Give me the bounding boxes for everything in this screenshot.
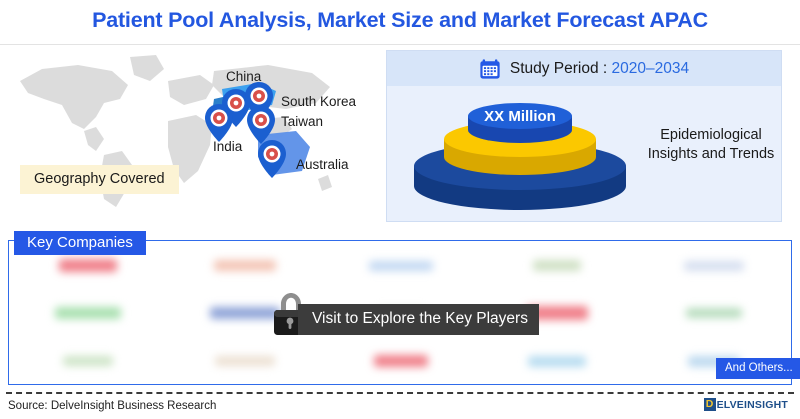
study-period-panel: Study Period : 2020–2034 XX Million Epid… bbox=[386, 50, 782, 222]
and-others-button[interactable]: And Others... bbox=[716, 358, 800, 379]
map-label-china: China bbox=[226, 69, 261, 84]
map-pin-australia bbox=[258, 140, 286, 178]
company-logo-placeholder bbox=[10, 337, 166, 385]
study-period-body: XX Million Epidemiological Insights and … bbox=[387, 86, 781, 222]
company-logo-placeholder bbox=[166, 242, 322, 290]
calendar-icon bbox=[479, 58, 501, 80]
footer-divider bbox=[6, 392, 794, 394]
company-logo-placeholder bbox=[479, 337, 635, 385]
source-text: Source: DelveInsight Business Research bbox=[8, 400, 216, 412]
geography-map-panel: Geography Covered bbox=[0, 47, 380, 222]
company-logo-placeholder bbox=[323, 337, 479, 385]
study-period-label: Study Period : bbox=[510, 60, 612, 77]
company-logo-placeholder bbox=[323, 242, 479, 290]
map-pin-india bbox=[205, 104, 233, 142]
map-pin-taiwan bbox=[247, 106, 275, 144]
map-label-australia: Australia bbox=[296, 157, 349, 172]
map-label-taiwan: Taiwan bbox=[281, 114, 323, 129]
study-period-header: Study Period : 2020–2034 bbox=[387, 51, 781, 86]
company-logo-placeholder bbox=[10, 290, 166, 338]
brand-mark-icon: D bbox=[704, 398, 716, 411]
explore-key-players-cta[interactable]: Visit to Explore the Key Players bbox=[298, 304, 539, 335]
key-companies-tag: Key Companies bbox=[14, 231, 146, 255]
infographic-page: Patient Pool Analysis, Market Size and M… bbox=[0, 0, 800, 419]
stack-label: XX Million bbox=[484, 108, 556, 125]
page-title: Patient Pool Analysis, Market Size and M… bbox=[0, 8, 800, 33]
company-logo-placeholder bbox=[636, 242, 792, 290]
study-period-text: Study Period : 2020–2034 bbox=[510, 60, 689, 78]
market-size-stack-graphic: XX Million bbox=[405, 94, 635, 212]
company-logo-placeholder bbox=[166, 337, 322, 385]
brand-name: ELVEINSIGHT bbox=[717, 399, 788, 411]
title-divider bbox=[0, 44, 800, 45]
map-label-south-korea: South Korea bbox=[281, 94, 356, 109]
study-period-years: 2020–2034 bbox=[612, 60, 690, 77]
map-label-india: India bbox=[213, 139, 242, 154]
map-pins-group bbox=[0, 47, 380, 222]
delveinsight-logo: D ELVEINSIGHT bbox=[704, 398, 788, 411]
epidemiological-insights-text: Epidemiological Insights and Trends bbox=[642, 126, 780, 163]
company-logo-placeholder bbox=[479, 242, 635, 290]
company-logo-placeholder bbox=[636, 290, 792, 338]
